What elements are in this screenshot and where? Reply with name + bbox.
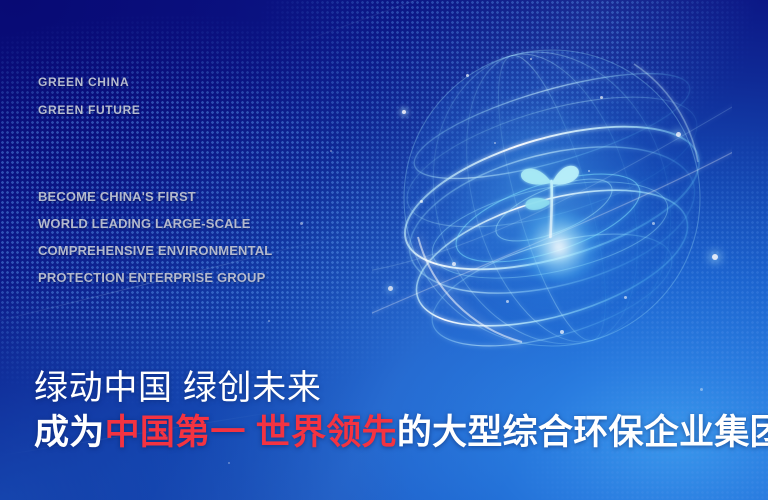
sprout-seedling-icon <box>511 153 589 257</box>
eyebrow-line-2: GREEN FUTURE <box>38 96 141 124</box>
headline-highlight: 中国第一 世界领先 <box>105 413 397 452</box>
subheadline-line-1: BECOME CHINA'S FIRST <box>38 183 272 210</box>
eyebrow-line-1: GREEN CHINA <box>38 68 141 96</box>
main-headline: 绿动中国 绿创未来 成为中国第一 世界领先的大型综合环保企业集团 <box>34 366 768 456</box>
subheadline-line-3: COMPREHENSIVE ENVIRONMENTAL <box>38 237 272 264</box>
subheadline-block: BECOME CHINA'S FIRST WORLD LEADING LARGE… <box>38 183 272 291</box>
headline-prefix: 成为 <box>34 413 105 452</box>
subheadline-line-2: WORLD LEADING LARGE-SCALE <box>38 210 272 237</box>
subheadline-line-4: PROTECTION ENTERPRISE GROUP <box>38 264 272 291</box>
promo-banner: GREEN CHINA GREEN FUTURE BECOME CHINA'S … <box>0 0 768 500</box>
wireframe-globe <box>372 22 732 374</box>
headline-suffix: 的大型综合环保企业集团 <box>397 413 768 452</box>
eyebrow-tagline: GREEN CHINA GREEN FUTURE <box>38 68 141 124</box>
headline-line-1: 绿动中国 绿创未来 <box>34 366 768 410</box>
headline-line-2: 成为中国第一 世界领先的大型综合环保企业集团 <box>34 410 768 456</box>
